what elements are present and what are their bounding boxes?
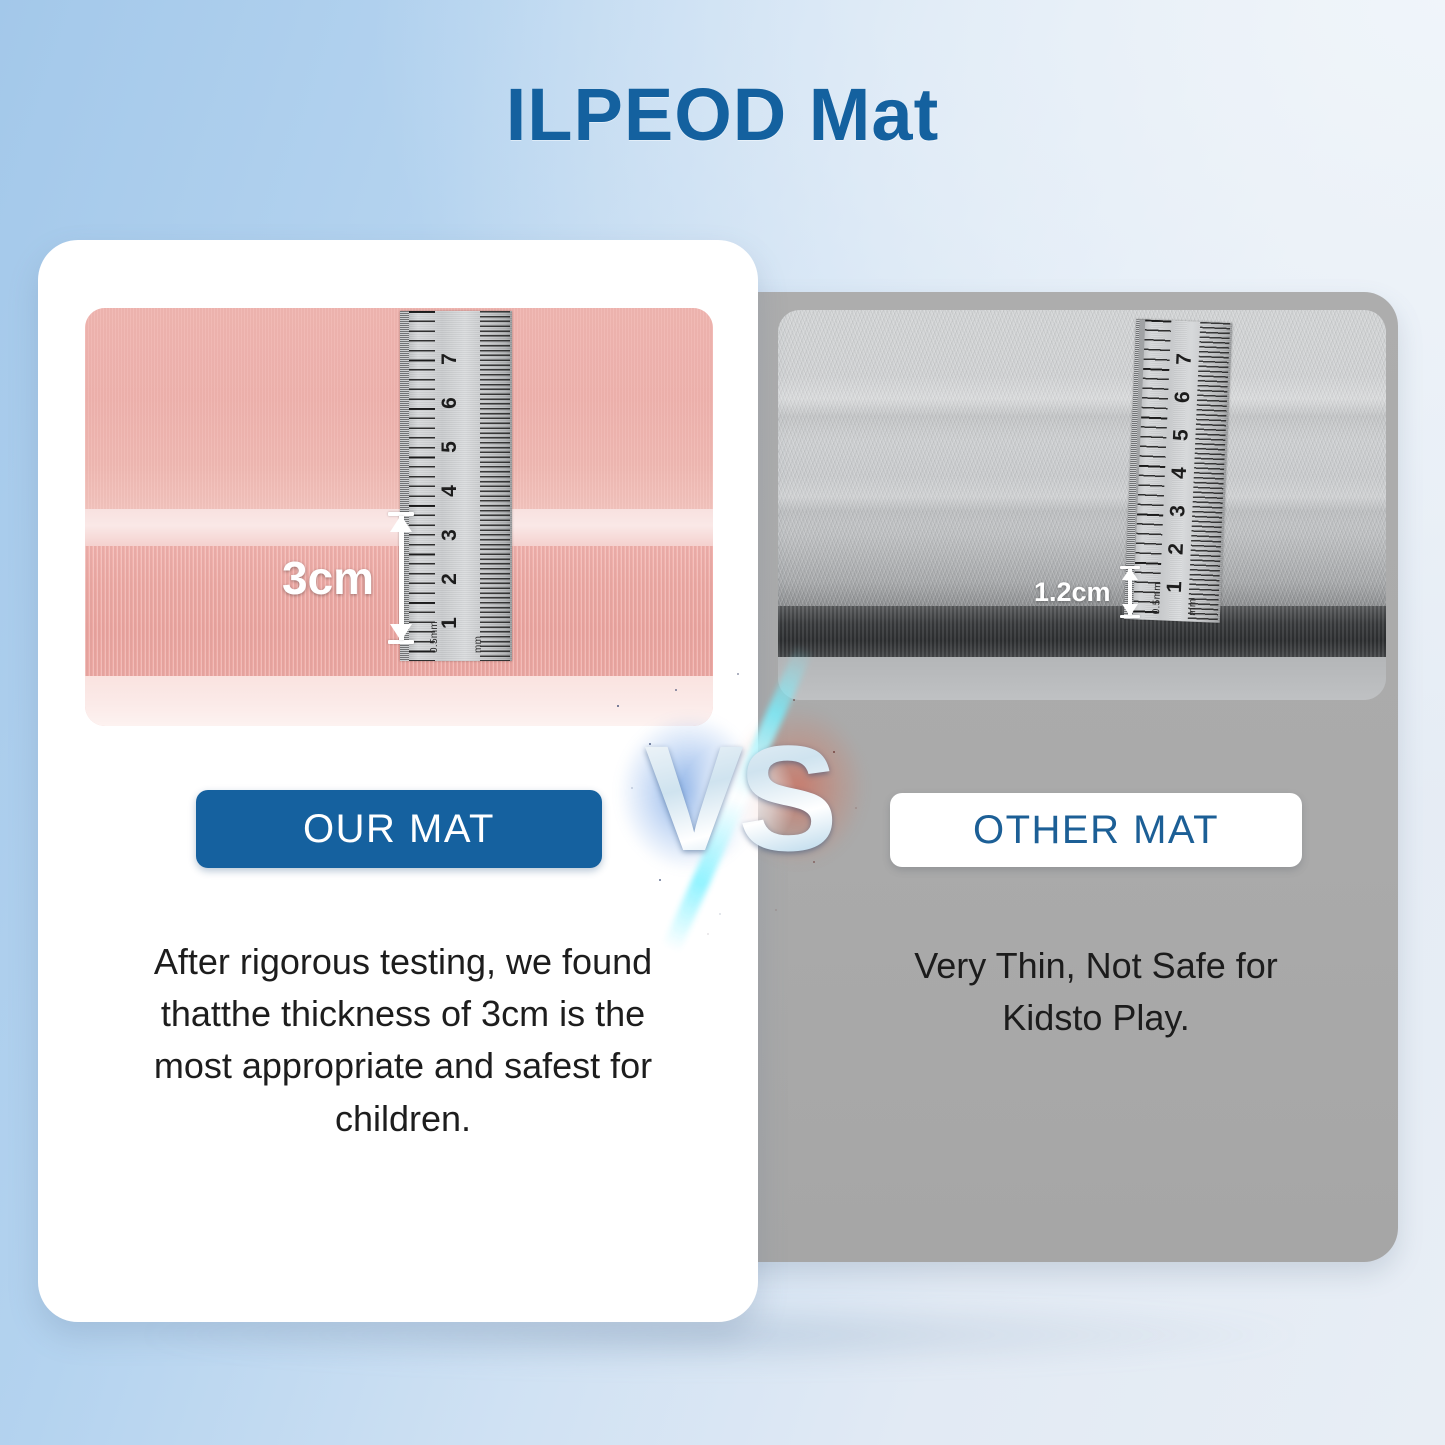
measure-double-arrow xyxy=(388,512,414,644)
infographic-canvas: ILPEOD Mat 1 2 3 4 5 6 7 0.5mm mm 1.2cm xyxy=(0,0,1445,1445)
ruler-number: 3 xyxy=(438,520,462,550)
ruler-number: 3 xyxy=(1166,496,1191,527)
other-mat-label-chip: OTHER MAT xyxy=(890,793,1302,867)
ruler-precision-tag: 0.5mm xyxy=(1151,582,1163,614)
ruler-number: 7 xyxy=(1172,344,1197,375)
our-mat-panel xyxy=(38,240,758,1322)
measure-shaft xyxy=(399,516,404,640)
ruler-number-column: 1 2 3 4 5 6 7 xyxy=(435,311,465,661)
ruler-unit-tag: mm xyxy=(473,636,484,653)
other-mat-measurement: 1.2cm xyxy=(1034,566,1140,618)
our-mat-measurement: 3cm xyxy=(282,512,414,644)
ruler-number: 5 xyxy=(438,432,462,462)
other-mat-floor xyxy=(778,657,1386,700)
ruler-minor-ticks-right xyxy=(480,311,510,661)
ruler-number: 6 xyxy=(438,388,462,418)
our-mat-measurement-label: 3cm xyxy=(282,551,374,605)
measure-shaft xyxy=(1128,569,1132,615)
ruler-number: 6 xyxy=(1170,382,1195,413)
ruler-number: 2 xyxy=(438,564,462,594)
ruler-number: 7 xyxy=(438,344,462,374)
ruler-number: 2 xyxy=(1164,534,1189,565)
measure-double-arrow xyxy=(1120,566,1140,618)
other-mat-ruler: 1 2 3 4 5 6 7 0.5mm mm xyxy=(1124,319,1232,623)
ruler-unit-tag: mm xyxy=(1187,598,1199,616)
ruler-number: 5 xyxy=(1169,420,1194,451)
ruler-number: 4 xyxy=(1167,458,1192,489)
our-mat-label-chip: OUR MAT xyxy=(196,790,602,868)
other-mat-photo xyxy=(778,310,1386,700)
ruler-number: 1 xyxy=(1163,571,1188,602)
our-mat-ruler: 1 2 3 4 5 6 7 0.5mm mm xyxy=(400,311,512,661)
ruler-number: 4 xyxy=(438,476,462,506)
other-mat-measurement-label: 1.2cm xyxy=(1034,577,1111,608)
our-mat-surface xyxy=(85,308,713,509)
ruler-precision-tag: 0.5mm xyxy=(429,621,440,653)
our-mat-floor xyxy=(85,676,713,726)
ruler-number: 1 xyxy=(438,608,462,638)
our-mat-description: After rigorous testing, we found thatthe… xyxy=(118,936,688,1145)
other-mat-surface xyxy=(778,310,1386,606)
other-mat-description: Very Thin, Not Safe for Kidsto Play. xyxy=(866,940,1326,1044)
page-title: ILPEOD Mat xyxy=(0,72,1445,157)
